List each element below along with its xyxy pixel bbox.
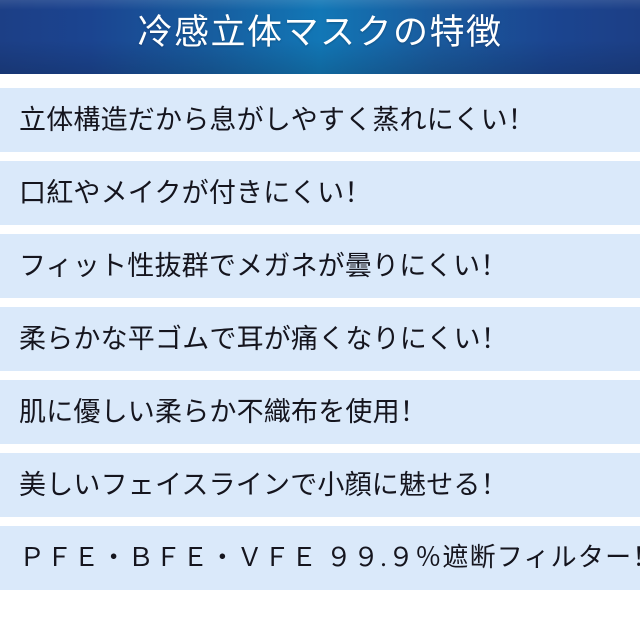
feature-row: 柔らかな平ゴムで耳が痛くなりにくい！	[0, 307, 640, 371]
feature-row-label: 柔らかな平ゴムで耳が痛くなりにくい！	[0, 322, 508, 356]
feature-row: 口紅やメイクが付きにくい！	[0, 161, 640, 225]
feature-row-label: 口紅やメイクが付きにくい！	[0, 176, 372, 210]
promo-graphic: 冷感立体マスクの特徴 立体構造だから息がしやすく蒸れにくい！ 口紅やメイクが付き…	[0, 0, 640, 640]
feature-row: フィット性抜群でメガネが曇りにくい！	[0, 234, 640, 298]
feature-list: 立体構造だから息がしやすく蒸れにくい！ 口紅やメイクが付きにくい！ フィット性抜…	[0, 88, 640, 590]
feature-row-label: 肌に優しい柔らか不織布を使用！	[0, 395, 427, 429]
feature-row-label: 美しいフェイスラインで小顔に魅せる！	[0, 468, 508, 502]
feature-row: ＰＦＥ・ＢＦＥ・ＶＦＥ ９９.９％遮断フィルター！	[0, 526, 640, 590]
feature-row-label: ＰＦＥ・ＢＦＥ・ＶＦＥ ９９.９％遮断フィルター！	[0, 541, 640, 575]
feature-row-label: 立体構造だから息がしやすく蒸れにくい！	[0, 103, 535, 137]
feature-row: 美しいフェイスラインで小顔に魅せる！	[0, 453, 640, 517]
page-title: 冷感立体マスクの特徴	[0, 7, 640, 59]
feature-row: 立体構造だから息がしやすく蒸れにくい！	[0, 88, 640, 152]
header-banner: 冷感立体マスクの特徴	[0, 0, 640, 74]
feature-row: 肌に優しい柔らか不織布を使用！	[0, 380, 640, 444]
feature-row-label: フィット性抜群でメガネが曇りにくい！	[0, 249, 508, 283]
